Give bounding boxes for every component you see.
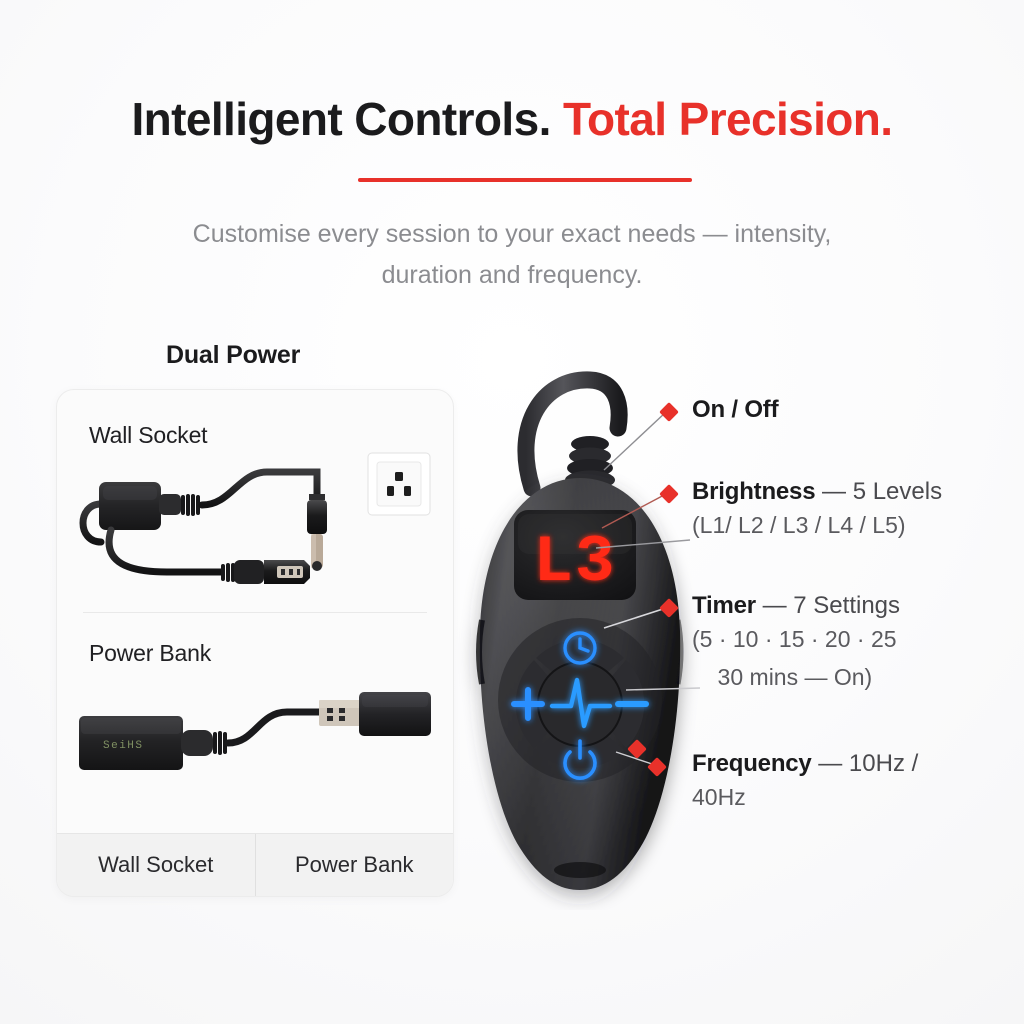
- annotation-timer-sub: (5 · 10 · 15 · 20 · 25 30 mins — On): [692, 620, 1012, 696]
- headline-primary: Intelligent Controls.: [132, 93, 551, 145]
- dual-power-card: Wall Socket: [56, 389, 454, 897]
- annotation-brightness-title: Brightness: [692, 478, 815, 505]
- annotation-on-off-title: On / Off: [692, 396, 778, 423]
- led-display: L3: [514, 510, 636, 600]
- caption-wall-socket: Wall Socket: [57, 834, 255, 896]
- annotation-timer-title: Timer: [692, 592, 756, 619]
- annotation-on-off: On / Off: [692, 396, 778, 424]
- handheld-controller: L3: [440, 370, 720, 910]
- annotation-brightness: Brightness — 5 Levels (L1/ L2 / L3 / L4 …: [692, 478, 1012, 544]
- device-foot: [554, 862, 606, 878]
- power-adapter-icon: [71, 460, 371, 588]
- display-value: L3: [533, 525, 616, 600]
- power-bank-label: Power Bank: [89, 640, 211, 667]
- subtitle-line-2: duration and frequency.: [382, 261, 643, 289]
- wall-socket-label: Wall Socket: [89, 422, 207, 449]
- card-caption-bar: Wall Socket Power Bank: [57, 833, 453, 896]
- power-bank-marking: SeiHS: [103, 740, 144, 752]
- caption-power-bank: Power Bank: [255, 834, 454, 896]
- dual-power-heading: Dual Power: [166, 341, 300, 370]
- power-bank-icon: SeiHS: [73, 688, 439, 798]
- infographic-stage: Intelligent Controls. Total Precision. C…: [0, 0, 1024, 1024]
- page-title: Intelligent Controls. Total Precision.: [0, 92, 1024, 146]
- annotation-frequency: Frequency — 10Hz / 40Hz: [692, 750, 1012, 816]
- title-underline-rule: [358, 178, 692, 182]
- annotation-timer-value: — 7 Settings: [756, 592, 900, 619]
- subtitle-line-1: Customise every session to your exact ne…: [193, 220, 832, 248]
- annotation-frequency-title: Frequency: [692, 750, 812, 777]
- card-divider: [83, 612, 427, 613]
- annotation-brightness-sub: (L1/ L2 / L3 / L4 / L5): [692, 506, 1012, 544]
- headline-accent: Total Precision.: [563, 93, 893, 145]
- annotation-brightness-value: — 5 Levels: [815, 478, 942, 505]
- annotation-frequency-value: — 10Hz /: [812, 750, 919, 777]
- annotation-frequency-sub: 40Hz: [692, 778, 1012, 816]
- page-subtitle: Customise every session to your exact ne…: [117, 214, 907, 296]
- wall-socket-icon: [367, 452, 431, 516]
- annotation-timer: Timer — 7 Settings (5 · 10 · 15 · 20 · 2…: [692, 592, 1012, 696]
